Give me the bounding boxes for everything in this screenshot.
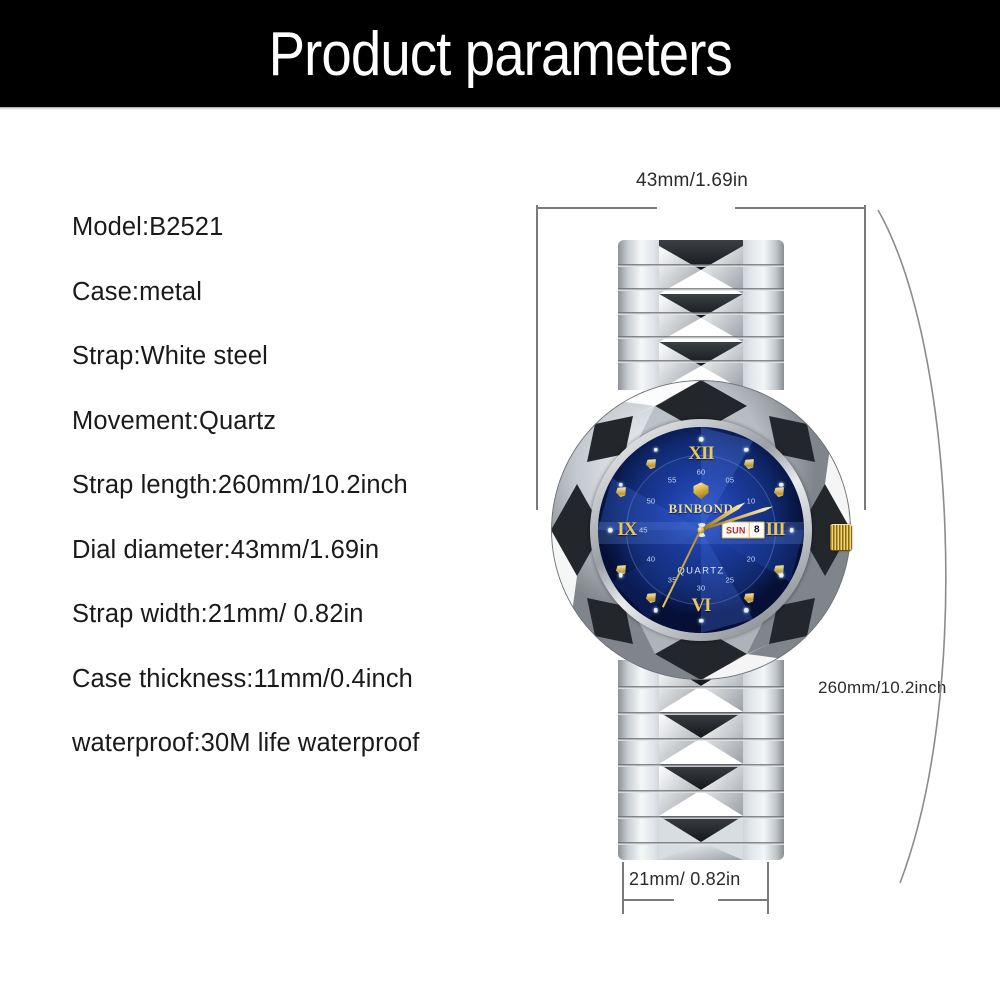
dial-lume-dot <box>779 482 784 487</box>
dial-minute-number: 40 <box>647 554 656 563</box>
dial-roman-numeral-xii: XII <box>688 443 714 465</box>
dial-minute-number: 45 <box>639 526 648 535</box>
bracelet-gold-rail-right-upper <box>743 240 758 390</box>
dial-roman-numeral-iii: III <box>766 519 785 541</box>
dimension-tick-bottom-left <box>622 862 624 914</box>
bracelet-link-separator <box>618 264 784 267</box>
dimension-line-top-left <box>537 207 657 209</box>
dial-lume-dot <box>699 618 704 623</box>
dial-lume-dot <box>653 447 658 452</box>
spec-item-strap: Strap:White steel <box>72 344 542 370</box>
dimension-line-top-right <box>735 207 865 209</box>
date-display: 8 <box>750 523 764 538</box>
hands-center-cap <box>698 527 705 534</box>
dial-minute-number: 05 <box>725 475 734 484</box>
dial-lume-dot <box>789 528 794 533</box>
dial-lume-dot <box>618 482 623 487</box>
page-title: Product parameters <box>268 19 731 90</box>
watch-crown <box>830 524 852 551</box>
dial-minute-number: 60 <box>697 468 706 477</box>
bracelet-gold-rail-left-upper <box>644 240 659 390</box>
dial-lume-dot <box>699 437 704 442</box>
watch-product-image: 60 05 10 20 25 30 35 40 45 50 55 XII III… <box>536 240 866 865</box>
dial-minute-number: 20 <box>747 554 756 563</box>
watch-dial: 60 05 10 20 25 30 35 40 45 50 55 XII III… <box>598 427 804 633</box>
dial-lume-dot <box>744 608 749 613</box>
dial-minute-number: 30 <box>697 583 706 592</box>
bracelet-facet-pattern-lower <box>659 660 743 860</box>
dial-roman-numeral-ix: IX <box>617 519 636 541</box>
spec-item-movement: Movement:Quartz <box>72 409 542 435</box>
dial-minute-number: 55 <box>668 475 677 484</box>
bracelet-link-separator <box>618 336 784 339</box>
dimension-line-bottom-right <box>718 899 769 901</box>
spec-item-case-thickness: Case thickness:11mm/0.4inch <box>72 667 542 693</box>
watch-bracelet-upper <box>618 240 784 390</box>
dial-minute-number: 10 <box>747 497 756 506</box>
strap-length-arc <box>860 195 1000 895</box>
spec-item-strap-width: Strap width:21mm/ 0.82in <box>72 602 542 628</box>
watch-case: 60 05 10 20 25 30 35 40 45 50 55 XII III… <box>551 380 851 680</box>
bracelet-link-separator <box>618 360 784 363</box>
dial-movement-text: QUARTZ <box>677 566 724 577</box>
day-display: SUN <box>723 523 749 538</box>
spec-item-strap-length: Strap length:260mm/10.2inch <box>72 473 542 499</box>
dimension-label-strap-width: 21mm/ 0.82in <box>629 869 740 890</box>
watch-bracelet-lower <box>618 660 784 860</box>
bracelet-facet-pattern-upper <box>659 240 743 390</box>
spec-list: Model:B2521 Case:metal Strap:White steel… <box>72 215 542 796</box>
dial-minute-number: 25 <box>725 576 734 585</box>
bracelet-link-separator <box>618 288 784 291</box>
bracelet-link-separator <box>618 686 784 689</box>
bracelet-link-separator <box>618 816 784 819</box>
dial-lume-dot <box>618 573 623 578</box>
dial-lume-dot <box>653 608 658 613</box>
bracelet-gold-rail-left-lower <box>644 660 659 860</box>
spec-item-waterproof: waterproof:30M life waterproof <box>72 731 542 757</box>
spec-item-model: Model:B2521 <box>72 215 542 241</box>
day-date-window: SUN 8 <box>722 522 765 539</box>
dimension-line-bottom-left <box>622 899 674 901</box>
bracelet-gold-rail-right-lower <box>743 660 758 860</box>
dimension-label-width: 43mm/1.69in <box>636 170 748 192</box>
banner-bottom-edge <box>0 107 1000 110</box>
dial-roman-numeral-vi: VI <box>691 595 710 617</box>
dial-lume-dot <box>744 447 749 452</box>
bracelet-link-separator <box>618 790 784 793</box>
bracelet-link-separator <box>618 312 784 315</box>
dial-lume-dot <box>779 573 784 578</box>
bracelet-link-separator <box>618 764 784 767</box>
bracelet-link-separator <box>618 738 784 741</box>
dimension-tick-bottom-right <box>767 862 769 914</box>
bracelet-link-separator <box>618 842 784 845</box>
header-banner: Product parameters <box>0 0 1000 108</box>
spec-item-dial-diameter: Dial diameter:43mm/1.69in <box>72 538 542 564</box>
spec-item-case: Case:metal <box>72 280 542 306</box>
bracelet-link-separator <box>618 712 784 715</box>
dial-lume-dot <box>608 528 613 533</box>
dial-minute-number: 50 <box>647 497 656 506</box>
